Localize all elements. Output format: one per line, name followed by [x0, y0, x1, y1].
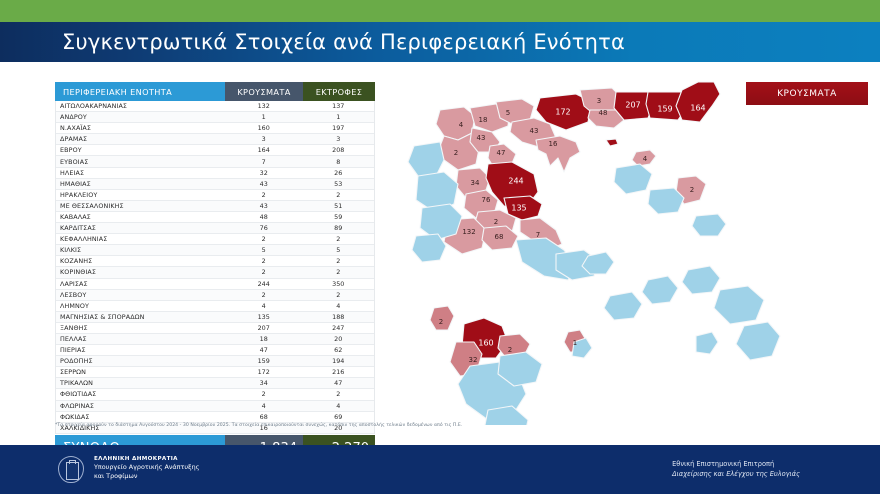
cell-region: ΔΡΑΜΑΣ [56, 135, 225, 143]
table-row: ΑΙΤΩΛΟΑΚΑΡΝΑΝΙΑΣ132137 [56, 101, 374, 112]
cell-region: ΚΕΦΑΛΛΗΝΙΑΣ [56, 235, 225, 243]
cell-cases: 34 [225, 379, 303, 387]
cell-cases: 2 [225, 257, 303, 265]
cell-farms: 26 [302, 169, 374, 177]
column-header-cases: ΚΡΟΥΣΜΑΤΑ [225, 82, 303, 101]
cell-region: ΤΡΙΚΑΛΩΝ [56, 379, 225, 387]
map-label-florinas: 4 [459, 121, 464, 129]
cell-cases: 68 [225, 413, 303, 421]
cell-region: ΗΛΕΙΑΣ [56, 169, 225, 177]
map-label-larisas: 244 [508, 177, 523, 186]
cell-cases: 244 [225, 280, 303, 288]
table-row: ΚΙΛΚΙΣ55 [56, 245, 374, 256]
region-blue-sporades [614, 164, 652, 194]
table-row: ΞΑΝΘΗΣ207247 [56, 323, 374, 334]
cell-cases: 207 [225, 324, 303, 332]
map-label-trikalon: 34 [471, 179, 480, 187]
cell-region: ΣΕΡΡΩΝ [56, 368, 225, 376]
map-label-kilkis: 5 [506, 109, 510, 117]
cell-farms: 208 [302, 146, 374, 154]
table-row: ΡΟΔΟΠΗΣ159194 [56, 356, 374, 367]
cell-cases: 135 [225, 313, 303, 321]
table-row: ΛΕΣΒΟΥ22 [56, 290, 374, 301]
region-small-island [606, 139, 618, 146]
cell-cases: 2 [225, 191, 303, 199]
cell-cases: 3 [225, 135, 303, 143]
cell-farms: 350 [302, 280, 374, 288]
cell-farms: 2 [302, 390, 374, 398]
map-label-dramas: 3 [597, 97, 601, 105]
map-label-lesvou: 2 [690, 186, 694, 194]
cell-farms: 8 [302, 158, 374, 166]
cell-farms: 2 [302, 235, 374, 243]
greek-coat-of-arms-icon [58, 456, 84, 483]
region-blue-chiou [648, 188, 684, 214]
committee-block: Εθνική Επιστημονική Επιτροπή Διαχείρισης… [672, 459, 800, 479]
map-label-serron: 172 [555, 108, 570, 117]
region-blue-kykl2 [642, 276, 678, 304]
cell-farms: 59 [302, 213, 374, 221]
title-bar: Συγκεντρωτικά Στοιχεία ανά Περιφερειακή … [0, 22, 880, 62]
cell-cases: 159 [225, 357, 303, 365]
map-label-magnisias: 135 [511, 204, 526, 213]
cell-farms: 51 [302, 202, 374, 210]
cell-cases: 48 [225, 213, 303, 221]
map-label-limnou: 4 [643, 155, 648, 163]
table-row: ΕΒΡΟΥ164208 [56, 145, 374, 156]
region-evrou [676, 82, 720, 122]
ministry-line-1: ΕΛΛΗΝΙΚΗ ΔΗΜΟΚΡΑΤΙΑ [94, 455, 199, 463]
table-row: ΤΡΙΚΑΛΩΝ3447 [56, 378, 374, 389]
map-label-korinthias: 2 [508, 346, 512, 354]
cell-farms: 2 [302, 268, 374, 276]
cell-farms: 89 [302, 224, 374, 232]
cell-region: ΡΟΔΟΠΗΣ [56, 357, 225, 365]
region-blue-kykl3 [682, 266, 720, 294]
cell-farms: 20 [302, 335, 374, 343]
table-row: ΠΕΛΛΑΣ1820 [56, 334, 374, 345]
cell-farms: 216 [302, 368, 374, 376]
map-label-evvoias: 7 [536, 231, 540, 239]
committee-line-1: Εθνική Επιστημονική Επιτροπή [672, 459, 800, 469]
cell-region: ΠΕΛΛΑΣ [56, 335, 225, 343]
region-blue-karpathou [696, 332, 718, 354]
cell-farms: 194 [302, 357, 374, 365]
map-label-kavalas: 48 [599, 109, 608, 117]
table-row: ΛΗΜΝΟΥ44 [56, 301, 374, 312]
cell-region: ΜΕ ΘΕΣΣΑΛΟΝΙΚΗΣ [56, 202, 225, 210]
cell-region: ΛΗΜΝΟΥ [56, 302, 225, 310]
table-row: ΗΛΕΙΑΣ3226 [56, 168, 374, 179]
cell-region: ΦΩΚΙΔΑΣ [56, 413, 225, 421]
cell-cases: 1 [225, 113, 303, 121]
cell-cases: 76 [225, 224, 303, 232]
cell-region: Ν.ΑΧΑΪΑΣ [56, 124, 225, 132]
map-label-xanthis: 207 [625, 101, 640, 110]
table-row: ΜΑΓΝΗΣΙΑΣ & ΣΠΟΡΑΔΩΝ135188 [56, 312, 374, 323]
region-blue-samou [692, 214, 726, 236]
ministry-line-3: και Τροφίμων [94, 472, 199, 481]
cell-cases: 43 [225, 202, 303, 210]
cell-region: ΕΒΡΟΥ [56, 146, 225, 154]
map-label-pellas: 18 [479, 116, 488, 124]
top-green-strip [0, 0, 880, 22]
cell-farms: 4 [302, 402, 374, 410]
cell-cases: 5 [225, 246, 303, 254]
map-label-pierias: 47 [497, 149, 506, 157]
cell-cases: 132 [225, 102, 303, 110]
cell-region: ΕΥΒΟΙΑΣ [56, 158, 225, 166]
cell-region: ΗΡΑΚΛΕΙΟΥ [56, 191, 225, 199]
map-label-ileias: 32 [469, 356, 478, 364]
cell-farms: 1 [302, 113, 374, 121]
cell-farms: 2 [302, 191, 374, 199]
table-row: ΚΟΡΙΝΘΙΑΣ22 [56, 267, 374, 278]
cell-region: ΑΙΤΩΛΟΑΚΑΡΝΑΝΙΑΣ [56, 102, 225, 110]
table-row: Ν.ΑΧΑΪΑΣ160197 [56, 123, 374, 134]
cell-farms: 62 [302, 346, 374, 354]
table-row: ΕΥΒΟΙΑΣ78 [56, 156, 374, 167]
cell-farms: 197 [302, 124, 374, 132]
table-row: ΚΑΒΑΛΑΣ4859 [56, 212, 374, 223]
page-footer: ΕΛΛΗΝΙΚΗ ΔΗΜΟΚΡΑΤΙΑ Υπουργείο Αγροτικής … [0, 445, 880, 494]
cell-region: ΚΟΡΙΝΘΙΑΣ [56, 268, 225, 276]
cell-region: ΛΑΡΙΣΑΣ [56, 280, 225, 288]
cell-farms: 47 [302, 379, 374, 387]
map-label-fthiotidas: 2 [494, 218, 498, 226]
cell-region: ΚΟΖΑΝΗΣ [56, 257, 225, 265]
map-regions [408, 82, 780, 425]
table-row: ΚΑΡΔΙΤΣΑΣ7689 [56, 223, 374, 234]
map-label-evrou: 164 [690, 104, 705, 113]
cell-farms: 3 [302, 135, 374, 143]
cell-cases: 7 [225, 158, 303, 166]
map-label-karditsas: 76 [482, 196, 491, 204]
cell-cases: 2 [225, 235, 303, 243]
map-label-halkidikis: 16 [549, 140, 558, 148]
column-header-region: ΠΕΡΙΦΕΡΕΙΑΚΗ ΕΝΟΤΗΤΑ [55, 82, 225, 101]
map-label-kozanis: 2 [454, 149, 458, 157]
table-header-row: ΠΕΡΙΦΕΡΕΙΑΚΗ ΕΝΟΤΗΤΑ ΚΡΟΥΣΜΑΤΑ ΕΚΤΡΟΦΕΣ [55, 82, 375, 101]
cell-region: ΗΜΑΘΙΑΣ [56, 180, 225, 188]
cell-farms: 137 [302, 102, 374, 110]
cell-region: ΚΑΒΑΛΑΣ [56, 213, 225, 221]
cell-region: ΑΝΔΡΟΥ [56, 113, 225, 121]
greece-map: 4218434754316172348207159164423424476135… [400, 80, 870, 425]
ministry-line-2: Υπουργείο Αγροτικής Ανάπτυξης [94, 463, 199, 472]
table-body: ΑΙΤΩΛΟΑΚΑΡΝΑΝΙΑΣ132137ΑΝΔΡΟΥ11Ν.ΑΧΑΪΑΣ16… [55, 101, 375, 434]
cell-cases: 160 [225, 124, 303, 132]
cell-region: ΞΑΝΘΗΣ [56, 324, 225, 332]
cell-cases: 164 [225, 146, 303, 154]
table-row: ΚΟΖΑΝΗΣ22 [56, 256, 374, 267]
region-halkidikis [536, 136, 580, 172]
cell-region: ΚΙΛΚΙΣ [56, 246, 225, 254]
cell-cases: 4 [225, 402, 303, 410]
ministry-block: ΕΛΛΗΝΙΚΗ ΔΗΜΟΚΡΑΤΙΑ Υπουργείο Αγροτικής … [94, 455, 199, 482]
table-row: ΗΡΑΚΛΕΙΟΥ22 [56, 190, 374, 201]
map-label-thessa: 43 [530, 127, 539, 135]
cell-farms: 2 [302, 291, 374, 299]
region-blue-dodekanisou [714, 286, 764, 324]
map-label-aitoloak: 132 [462, 228, 475, 236]
main-canvas: ΠΕΡΙΦΕΡΕΙΑΚΗ ΕΝΟΤΗΤΑ ΚΡΟΥΣΜΑΤΑ ΕΚΤΡΟΦΕΣ … [0, 62, 880, 445]
column-header-farms: ΕΚΤΡΟΦΕΣ [303, 82, 375, 101]
table-row: ΠΙΕΡΙΑΣ4762 [56, 345, 374, 356]
cell-cases: 4 [225, 302, 303, 310]
cell-cases: 18 [225, 335, 303, 343]
map-label-rodopis: 159 [657, 105, 672, 114]
map-label-androu: 1 [573, 339, 577, 347]
cell-region: ΠΙΕΡΙΑΣ [56, 346, 225, 354]
committee-line-2: Διαχείρισης και Ελέγχου της Ευλογιάς [672, 469, 800, 479]
map-label-fokidas: 68 [495, 233, 504, 241]
cell-cases: 32 [225, 169, 303, 177]
cell-farms: 2 [302, 257, 374, 265]
summary-table: ΠΕΡΙΦΕΡΕΙΑΚΗ ΕΝΟΤΗΤΑ ΚΡΟΥΣΜΑΤΑ ΕΚΤΡΟΦΕΣ … [55, 82, 375, 462]
region-blue-ioannina [408, 142, 444, 176]
cell-cases: 2 [225, 390, 303, 398]
cell-cases: 47 [225, 346, 303, 354]
region-blue-rodou [736, 322, 780, 360]
cell-farms: 188 [302, 313, 374, 321]
cell-cases: 43 [225, 180, 303, 188]
map-label-achaias: 160 [478, 339, 493, 348]
table-row: ΜΕ ΘΕΣΣΑΛΟΝΙΚΗΣ4351 [56, 201, 374, 212]
map-label-imathias: 43 [477, 134, 486, 142]
table-row: ΗΜΑΘΙΑΣ4353 [56, 179, 374, 190]
cell-region: ΦΘΙΩΤΙΔΑΣ [56, 390, 225, 398]
cell-region: ΛΕΣΒΟΥ [56, 291, 225, 299]
cell-cases: 2 [225, 291, 303, 299]
cell-farms: 69 [302, 413, 374, 421]
table-row: ΦΘΙΩΤΙΔΑΣ22 [56, 389, 374, 400]
cell-region: ΚΑΡΔΙΤΣΑΣ [56, 224, 225, 232]
cell-region: ΜΑΓΝΗΣΙΑΣ & ΣΠΟΡΑΔΩΝ [56, 313, 225, 321]
cell-cases: 2 [225, 268, 303, 276]
cell-region: ΦΛΩΡΙΝΑΣ [56, 402, 225, 410]
table-row: ΑΝΔΡΟΥ11 [56, 112, 374, 123]
table-row: ΦΛΩΡΙΝΑΣ44 [56, 401, 374, 412]
region-blue-corfu [412, 234, 446, 262]
page-title: Συγκεντρωτικά Στοιχεία ανά Περιφερειακή … [0, 30, 625, 54]
cell-farms: 4 [302, 302, 374, 310]
table-row: ΣΕΡΡΩΝ172216 [56, 367, 374, 378]
table-row: ΚΕΦΑΛΛΗΝΙΑΣ22 [56, 234, 374, 245]
cell-farms: 247 [302, 324, 374, 332]
cell-farms: 5 [302, 246, 374, 254]
table-row: ΛΑΡΙΣΑΣ244350 [56, 279, 374, 290]
map-label-kefallinias: 2 [439, 318, 443, 326]
cell-cases: 172 [225, 368, 303, 376]
region-blue-kykladon [604, 292, 642, 320]
cell-farms: 53 [302, 180, 374, 188]
table-row: ΔΡΑΜΑΣ33 [56, 134, 374, 145]
table-row: ΦΩΚΙΔΑΣ6869 [56, 412, 374, 423]
